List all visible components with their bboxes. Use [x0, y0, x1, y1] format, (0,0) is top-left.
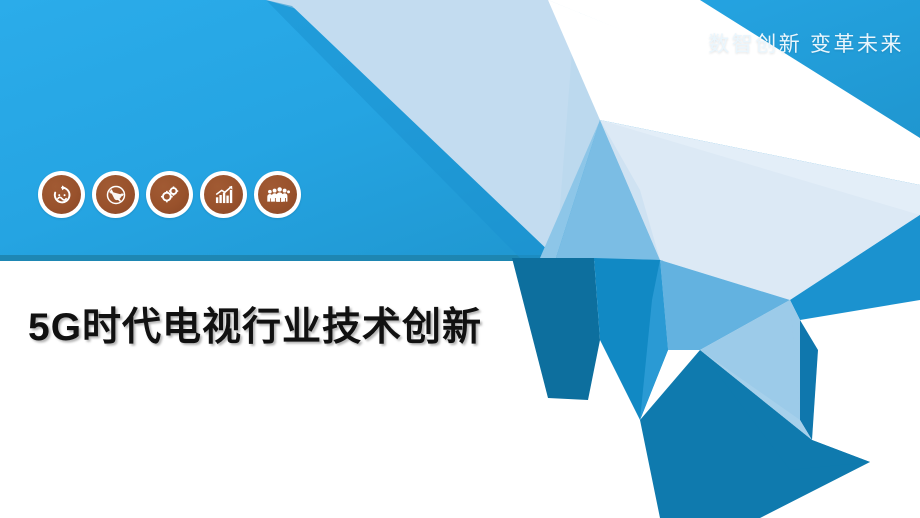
presentation-slide: 数智创新 变革未来 — [0, 0, 920, 518]
icon-row — [38, 171, 301, 218]
icon-badge-people-group[interactable] — [254, 171, 301, 218]
icon-badge-recycle-growth[interactable] — [38, 171, 85, 218]
low-poly-decoration — [0, 0, 920, 518]
globe-icon — [96, 175, 135, 214]
slide-tagline: 数智创新 变革未来 — [708, 28, 904, 58]
icon-badge-gears[interactable] — [146, 171, 193, 218]
poly-lower-right-deep — [800, 320, 818, 440]
poly-lower-dark-left — [512, 258, 600, 400]
icon-badge-bar-chart-growth[interactable] — [200, 171, 247, 218]
recycle-growth-icon — [42, 175, 81, 214]
icon-badge-globe[interactable] — [92, 171, 139, 218]
people-group-icon — [258, 175, 297, 214]
page-title: 5G时代电视行业技术创新 — [28, 296, 482, 352]
bar-chart-growth-icon — [204, 175, 243, 214]
gears-icon — [150, 175, 189, 214]
